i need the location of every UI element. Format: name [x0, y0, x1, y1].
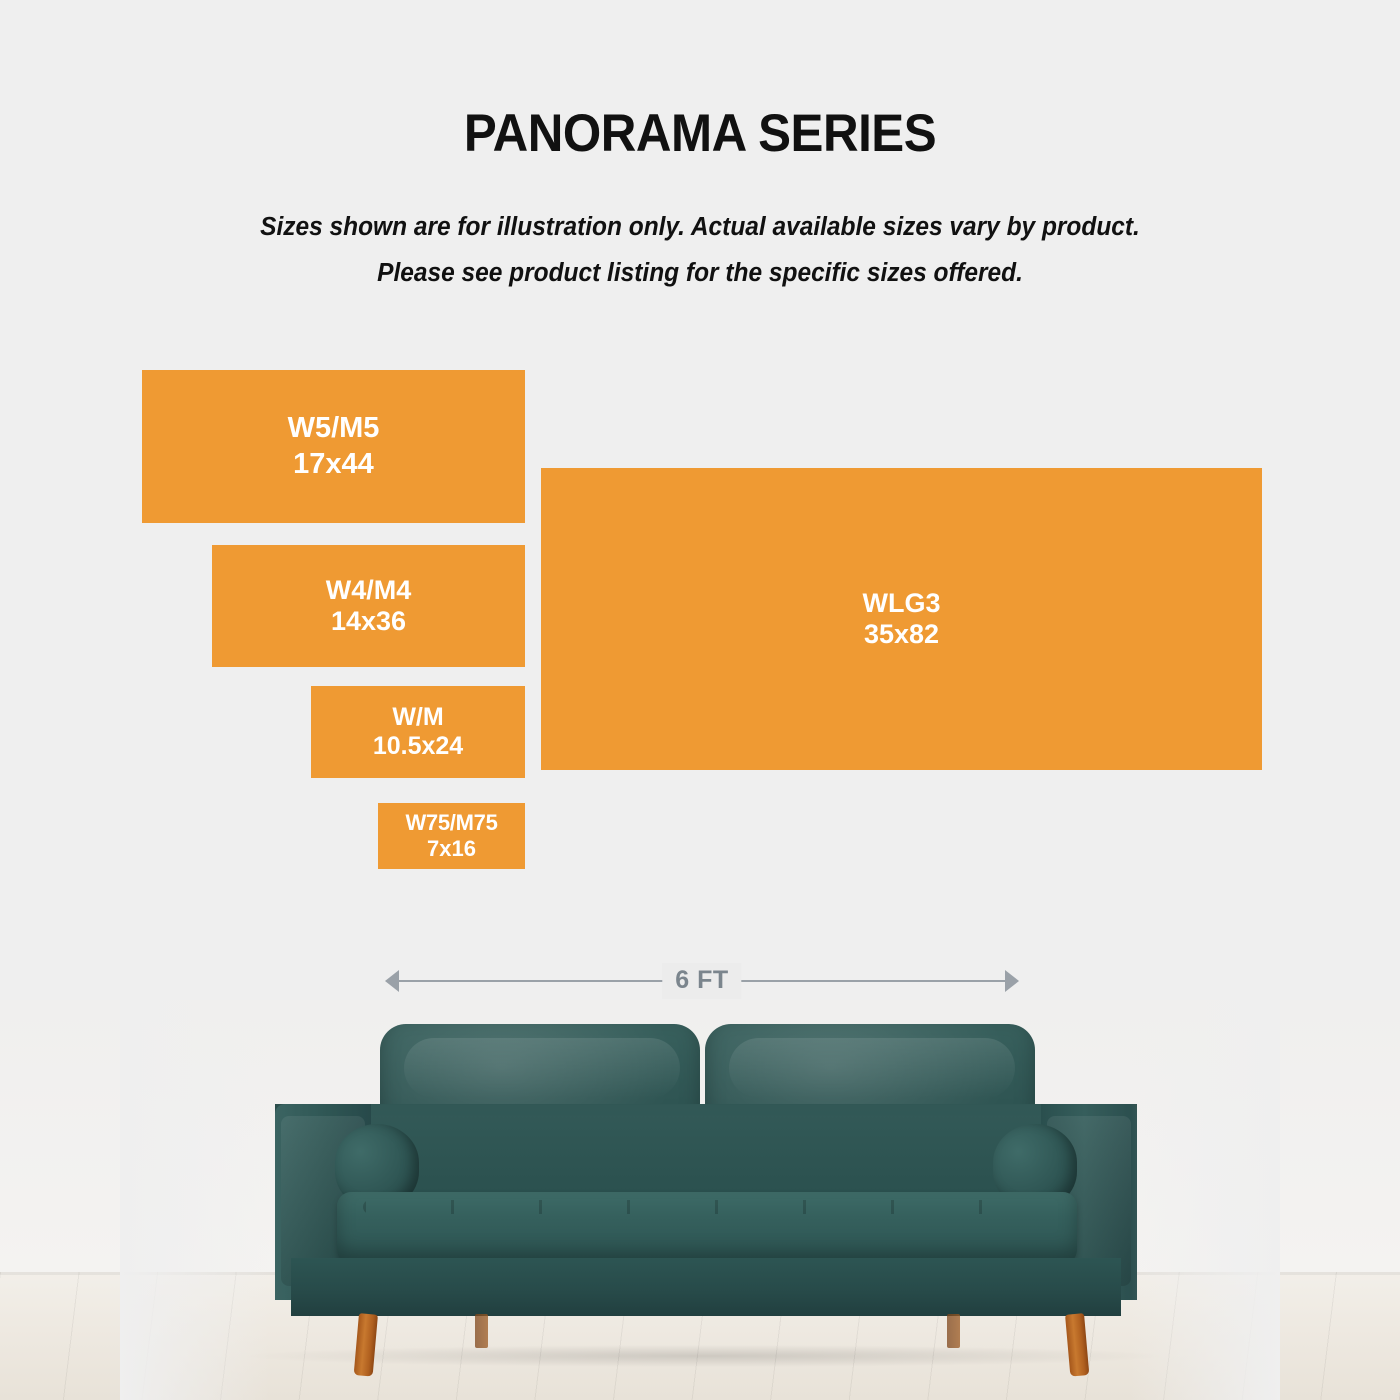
size-swatch-dimensions: 17x44 — [293, 448, 374, 482]
sofa-leg-back-right — [947, 1314, 960, 1348]
sofa-leg-back-left — [475, 1314, 488, 1348]
size-swatch-w-m[interactable]: W/M 10.5x24 — [311, 686, 525, 778]
measurement-label: 6 FT — [662, 963, 741, 999]
size-swatch-code: W/M — [392, 703, 443, 732]
arrow-right-icon — [1005, 970, 1019, 992]
size-swatch-code: W4/M4 — [326, 575, 412, 606]
page-title: PANORAMA SERIES — [49, 103, 1351, 164]
measurement-arrow: 6 FT — [385, 963, 1019, 999]
sofa-seat-cushion — [337, 1192, 1077, 1264]
page-subtitle: Sizes shown are for illustration only. A… — [28, 204, 1372, 296]
size-swatch-code: W5/M5 — [288, 412, 380, 446]
size-swatch-dimensions: 14x36 — [331, 606, 406, 637]
sofa-image — [275, 1018, 1137, 1318]
sofa-base — [291, 1258, 1121, 1316]
subtitle-line-1: Sizes shown are for illustration only. A… — [28, 204, 1372, 250]
subtitle-line-2: Please see product listing for the speci… — [28, 250, 1372, 296]
size-swatch-wlg3[interactable]: WLG3 35x82 — [541, 468, 1262, 770]
size-swatch-dimensions: 7x16 — [427, 836, 476, 862]
size-swatch-dimensions: 10.5x24 — [373, 732, 463, 761]
size-chart-page: PANORAMA SERIES Sizes shown are for illu… — [0, 0, 1400, 1400]
size-swatch-w75-m75[interactable]: W75/M75 7x16 — [378, 803, 525, 869]
room-scene — [0, 1000, 1400, 1400]
size-swatch-code: W75/M75 — [405, 810, 497, 836]
size-swatch-dimensions: 35x82 — [864, 619, 939, 650]
size-swatch-w4-m4[interactable]: W4/M4 14x36 — [212, 545, 525, 667]
size-swatch-code: WLG3 — [863, 588, 941, 619]
size-swatch-w5-m5[interactable]: W5/M5 17x44 — [142, 370, 525, 523]
sofa-shadow — [250, 1345, 1160, 1367]
